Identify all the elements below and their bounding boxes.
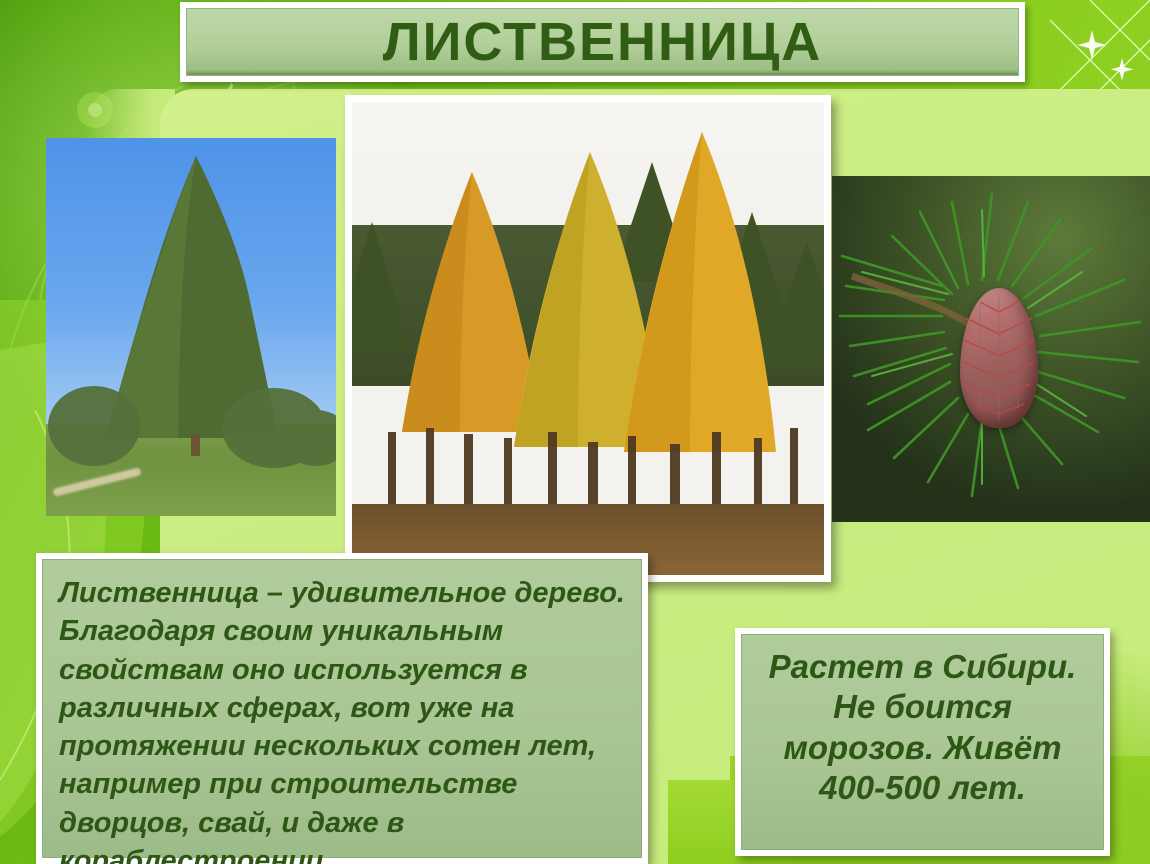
larch-cone-branch-photo: [832, 176, 1150, 522]
description-text-box: Лиственница – удивительное дерево. Благо…: [36, 553, 648, 864]
page-title: ЛИСТВЕННИЦА: [383, 15, 823, 69]
facts-text: Растет в Сибири. Не боится морозов. Живё…: [758, 647, 1087, 808]
description-text-inner: Лиственница – удивительное дерево. Благо…: [42, 559, 642, 858]
larch-cone-shape-icon: [960, 288, 1038, 428]
autumn-larch-forest-photo: [345, 95, 831, 582]
larch-forest-scene: [352, 102, 824, 575]
presentation-slide: ЛИСТВЕННИЦА: [0, 0, 1150, 864]
tree-shape-icon: [46, 138, 336, 516]
conifer-tree-blue-sky-photo: [46, 138, 336, 516]
slide-title-inner: ЛИСТВЕННИЦА: [186, 8, 1019, 76]
cone-scales-icon: [960, 288, 1038, 428]
description-text: Лиственница – удивительное дерево. Благо…: [59, 574, 625, 864]
facts-text-inner: Растет в Сибири. Не боится морозов. Живё…: [741, 634, 1104, 850]
facts-text-box: Растет в Сибири. Не боится морозов. Живё…: [735, 628, 1110, 856]
slide-title-box: ЛИСТВЕННИЦА: [180, 2, 1025, 82]
